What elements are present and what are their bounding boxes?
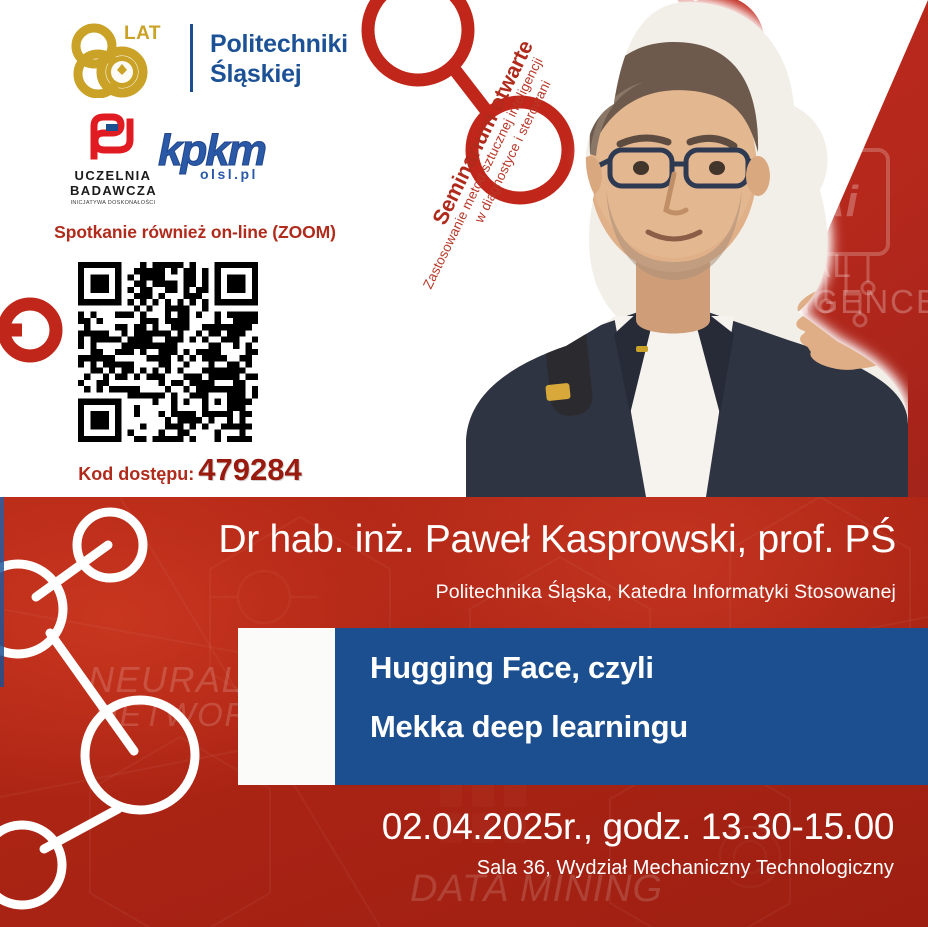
event-venue: Sala 36, Wydział Mechaniczny Technologic… [0,857,894,880]
access-code-value: 479284 [198,452,301,487]
logo-name-line2: Śląskiej [210,60,348,90]
talk-title-box: Hugging Face, czyli Mekka deep learningu [238,628,928,785]
kpkm-domain: olsl.pl [200,166,258,182]
uczelnia-line3: INICJATYWA DOSKONAŁOŚCI [70,200,156,206]
logo-kpkm: kpkm olsl.pl [158,126,288,196]
logo-divider [190,24,193,92]
talk-title-body: Hugging Face, czyli Mekka deep learningu [335,628,928,785]
talk-title-line2: Mekka deep learningu [370,711,928,742]
uczelnia-line1: UCZELNIA [70,168,156,183]
access-code: Kod dostępu:479284 [40,452,340,488]
logo-politechnika-slaska: LAT Politechniki Śląskiej [58,18,338,100]
speaker-portrait [438,0,908,497]
title-accent-block [238,628,335,785]
logo-uczelnia-badawcza: UCZELNIA BADAWCZA INICJATYWA DOSKONAŁOŚC… [70,112,156,204]
online-meeting-note: Spotkanie również on-line (ZOOM) [50,222,340,243]
event-datetime: 02.04.2025r., godz. 13.30-15.00 [0,806,894,848]
seminar-poster: Ai ARTIFICIAL INTELLIGENCE [0,0,928,927]
poster-header-section: Ai ARTIFICIAL INTELLIGENCE [0,0,928,497]
speaker-affiliation: Politechnika Śląska, Katedra Informatyki… [0,581,910,604]
uczelnia-badawcza-mark-icon [84,112,142,160]
qr-code-canvas[interactable] [78,262,258,442]
logo-university-name: Politechniki Śląskiej [210,30,348,89]
logo-name-line1: Politechniki [210,30,348,60]
access-code-label: Kod dostępu: [78,464,194,484]
talk-title-line1: Hugging Face, czyli [370,652,928,683]
speaker-name: Dr hab. inż. Paweł Kasprowski, prof. PŚ [0,518,910,562]
qr-code[interactable] [78,262,258,442]
uczelnia-line2: BADAWCZA [70,183,156,198]
anniversary-unit-label: LAT [124,23,161,45]
